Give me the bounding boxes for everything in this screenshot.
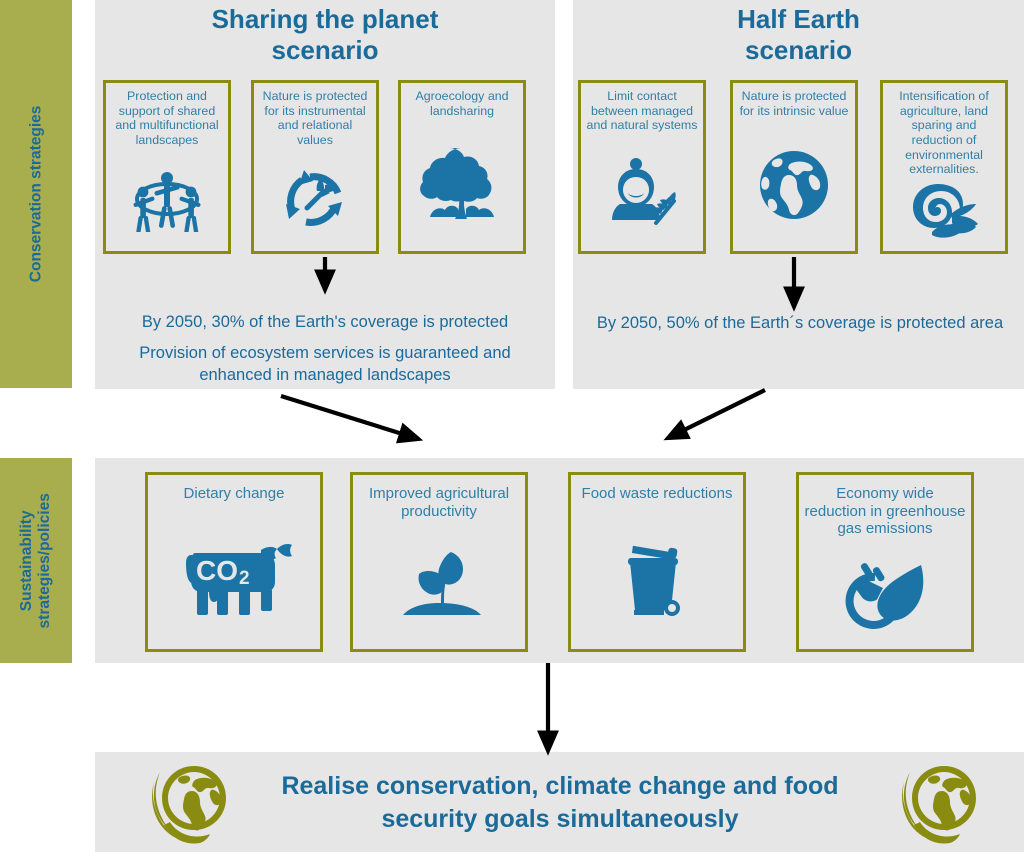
card-intensification-label: Intensification of agriculture, land spa… [883, 83, 1005, 177]
card-limitcontact-label: Limit contact between managed and natura… [581, 83, 703, 133]
svg-text:CO: CO [196, 555, 238, 586]
goal-line1: Realise conservation, climate change and… [281, 772, 838, 800]
band-sustainability-label: Sustainability strategies/policies [18, 493, 54, 628]
outcome-sharing-protected-coverage: By 2050, 30% of the Earth's coverage is … [110, 311, 540, 333]
card-dietary-change[interactable]: Dietary change CO 2 [145, 472, 323, 652]
cow-co2-icon: CO 2 [148, 503, 320, 649]
card-ghg-label: Economy wide reduction in greenhouse gas… [799, 475, 971, 538]
card-productivity-label: Improved agricultural productivity [353, 475, 525, 520]
title-halfearth-line1: Half Earth [737, 4, 860, 34]
band-sustainability-line1: Sustainability [18, 510, 35, 611]
plug-leaf-icon [799, 538, 971, 649]
svg-text:2: 2 [239, 568, 250, 589]
title-half-earth: Half Earth scenario [593, 4, 1004, 65]
people-circle-icon [106, 148, 228, 252]
card-protection-label: Protection and support of shared and mul… [106, 83, 228, 148]
card-agroecology-landsharing[interactable]: Agroecology and landsharing [398, 80, 526, 254]
card-dietary-label: Dietary change [179, 475, 290, 503]
title-sharing-the-planet: Sharing the planet scenario [115, 4, 535, 65]
card-instrumental-label: Nature is protected for its instrumental… [254, 83, 376, 148]
title-sharing-line1: Sharing the planet [212, 4, 439, 34]
tree-icon [401, 118, 523, 251]
card-foodwaste-label: Food waste reductions [577, 475, 738, 503]
diagram-canvas: Conservation strategies Sustainability s… [0, 0, 1024, 864]
band-conservation-strategies: Conservation strategies [0, 0, 72, 388]
card-intrinsic-label: Nature is protected for its intrinsic va… [733, 83, 855, 118]
card-agroecology-label: Agroecology and landsharing [401, 83, 523, 118]
card-improved-agricultural-productivity[interactable]: Improved agricultural productivity [350, 472, 528, 652]
seedling-icon [353, 520, 525, 649]
title-sharing-line2: scenario [272, 35, 379, 65]
card-intrinsic-value[interactable]: Nature is protected for its intrinsic va… [730, 80, 858, 254]
recycle-leaf-icon [254, 148, 376, 252]
title-halfearth-line2: scenario [745, 35, 852, 65]
band-sustainability-line2: strategies/policies [36, 493, 53, 628]
card-protection-support[interactable]: Protection and support of shared and mul… [103, 80, 231, 254]
globe-leaf-icon-right [898, 760, 982, 844]
outcome-halfearth-protected-area: By 2050, 50% of the Earth´s coverage is … [595, 312, 1005, 334]
goal-statement: Realise conservation, climate change and… [250, 770, 870, 836]
arrow-sharing-to-policies [281, 396, 412, 437]
waste-bin-icon [571, 503, 743, 649]
card-limit-contact[interactable]: Limit contact between managed and natura… [578, 80, 706, 254]
card-greenhouse-gas-reduction[interactable]: Economy wide reduction in greenhouse gas… [796, 472, 974, 652]
arrow-halfearth-to-policies [674, 390, 765, 435]
globe-icon [733, 118, 855, 251]
card-food-waste-reductions[interactable]: Food waste reductions [568, 472, 746, 652]
globe-leaf-icon-left [148, 760, 232, 844]
band-sustainability-policies: Sustainability strategies/policies [0, 458, 72, 663]
farmer-wheat-icon [581, 133, 703, 251]
goal-line2: security goals simultaneously [381, 805, 738, 833]
outcome-sharing-ecosystem-services: Provision of ecosystem services is guara… [110, 342, 540, 387]
band-conservation-label: Conservation strategies [27, 106, 45, 283]
rose-icon [883, 177, 1005, 251]
card-intensification-agriculture[interactable]: Intensification of agriculture, land spa… [880, 80, 1008, 254]
card-instrumental-relational-values[interactable]: Nature is protected for its instrumental… [251, 80, 379, 254]
